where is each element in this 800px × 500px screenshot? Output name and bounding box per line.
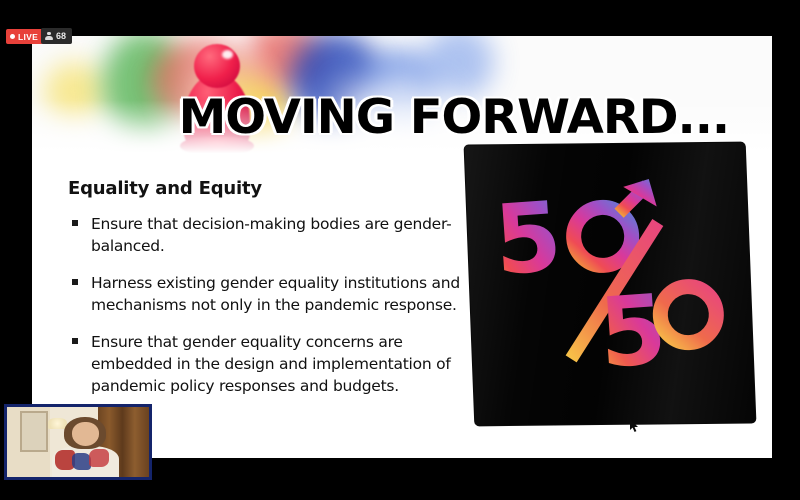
webcam-video-feed bbox=[7, 407, 149, 477]
speaker-face bbox=[72, 422, 99, 446]
svg-text:5: 5 bbox=[491, 180, 565, 296]
live-badge: LIVE bbox=[6, 29, 43, 44]
participant-count-badge[interactable]: 68 bbox=[41, 28, 72, 44]
slide-body: Equality and Equity Ensure that decision… bbox=[68, 178, 468, 412]
wall-picture-frame bbox=[20, 411, 48, 452]
slide-bullet-list: Ensure that decision-making bodies are g… bbox=[68, 213, 468, 397]
bullet-item: Harness existing gender equality institu… bbox=[68, 272, 468, 316]
bullet-item: Ensure that decision-making bodies are g… bbox=[68, 213, 468, 257]
speaker-webcam-thumbnail[interactable] bbox=[4, 404, 152, 480]
slide-subheading: Equality and Equity bbox=[68, 178, 468, 199]
slide-title: MOVING FORWARD... bbox=[179, 94, 730, 141]
presentation-slide[interactable]: Blurred colorful board game pawns with a… bbox=[32, 36, 772, 458]
fifty-fifty-graphic: 5 5 50 50 bbox=[470, 144, 750, 424]
bullet-item: Ensure that gender equality concerns are… bbox=[68, 331, 468, 397]
mouse-cursor bbox=[630, 419, 639, 433]
person-icon bbox=[45, 32, 53, 41]
live-badge-label: LIVE bbox=[18, 32, 38, 42]
record-dot-icon bbox=[10, 34, 15, 39]
participant-count-value: 68 bbox=[56, 31, 66, 41]
fifty-fifty-artwork: 5 5 bbox=[470, 144, 750, 424]
screen-share-viewport: Blurred colorful board game pawns with a… bbox=[0, 0, 800, 500]
blurred-pawn-yellow bbox=[44, 62, 106, 120]
